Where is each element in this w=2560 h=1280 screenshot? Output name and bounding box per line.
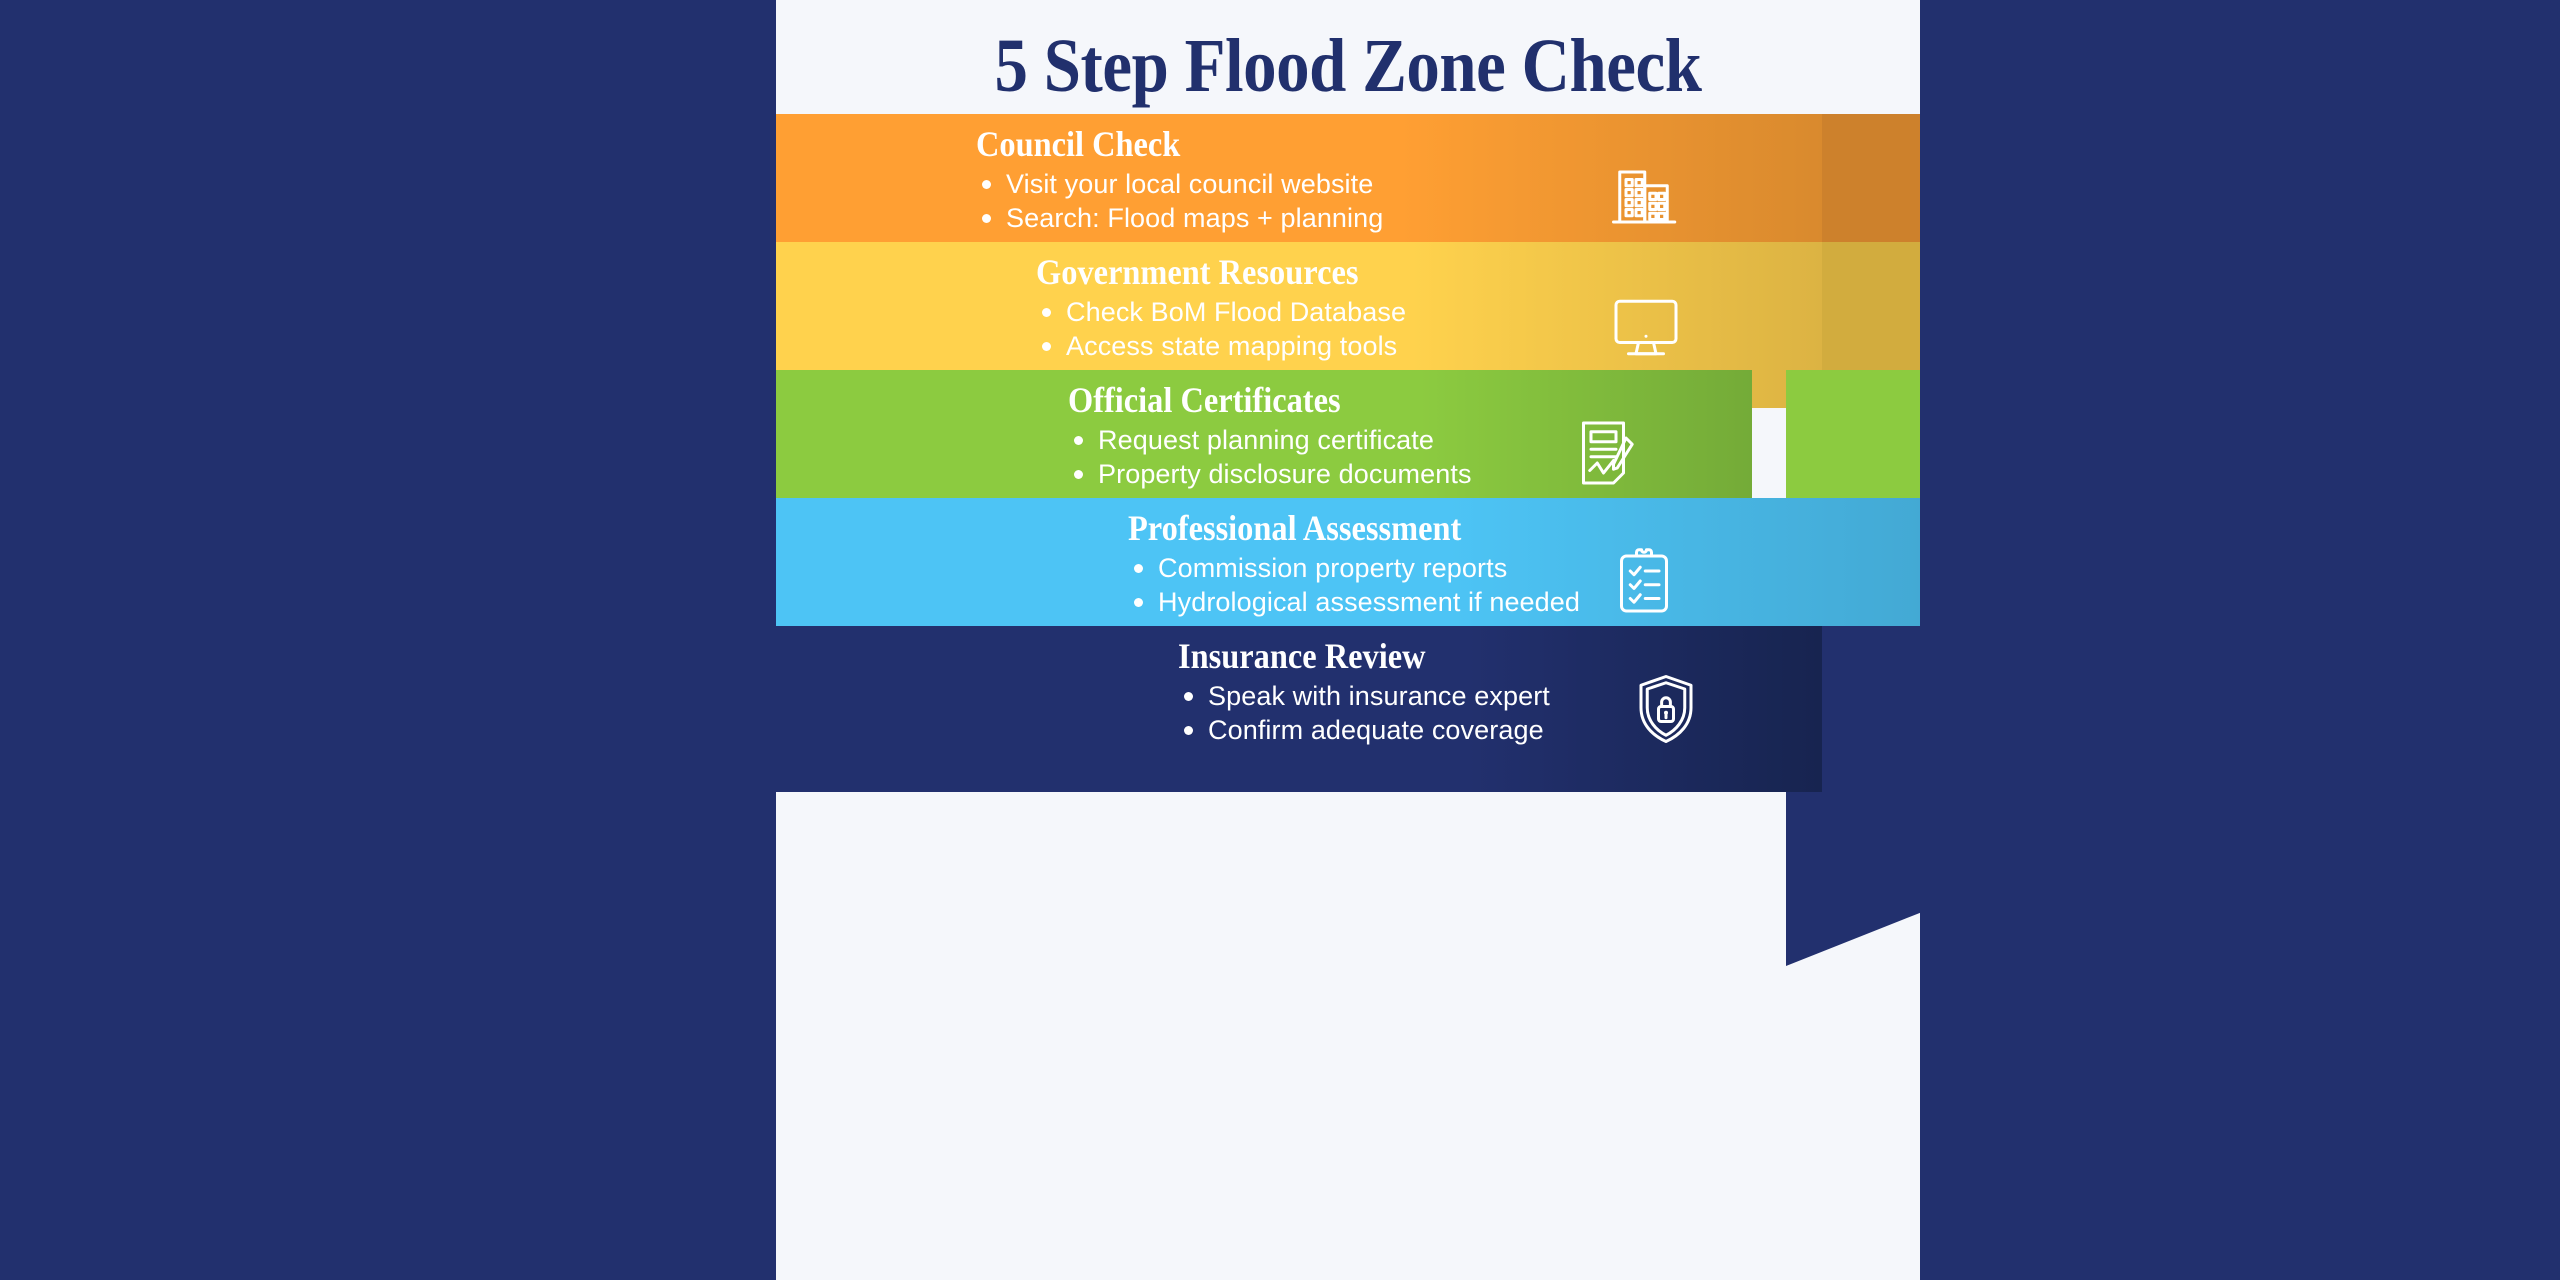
step-bullet: Hydrological assessment if needed <box>1128 585 1580 620</box>
step-bullets: Request planning certificate Property di… <box>1068 423 1472 492</box>
step-bullet: Commission property reports <box>1128 551 1580 586</box>
step-title: Insurance Review <box>1178 638 1513 676</box>
step-title: Official Certificates <box>1068 382 1431 420</box>
infographic-canvas: 5 Step Flood Zone Check 01 Council Check… <box>0 0 2560 1280</box>
clipboard-checklist-icon <box>1604 541 1684 621</box>
step-title: Council Check <box>976 126 1343 164</box>
page-panel: 5 Step Flood Zone Check 01 Council Check… <box>776 0 1920 1280</box>
office-building-icon <box>1606 157 1686 237</box>
step-bullets: Commission property reports Hydrological… <box>1128 551 1580 620</box>
page-title: 5 Step Flood Zone Check <box>845 28 1852 104</box>
step-bullet: Visit your local council website <box>976 167 1383 202</box>
step-title: Government Resources <box>1036 254 1369 292</box>
step-banner-05[interactable]: Insurance Review Speak with insurance ex… <box>776 626 1822 792</box>
step-bullet: Search: Flood maps + planning <box>976 201 1383 236</box>
step-bullet: Speak with insurance expert <box>1178 679 1550 714</box>
step-row: 05 Insurance Review Speak with insurance… <box>776 626 1920 792</box>
step-bullet: Access state mapping tools <box>1036 329 1406 364</box>
step-bullet: Request planning certificate <box>1068 423 1472 458</box>
shield-lock-icon <box>1626 669 1706 749</box>
step-bullets: Speak with insurance expert Confirm adeq… <box>1178 679 1550 748</box>
step-bullets: Check BoM Flood Database Access state ma… <box>1036 295 1406 364</box>
step-title: Professional Assessment <box>1128 510 1535 548</box>
desktop-monitor-icon <box>1606 285 1686 365</box>
step-bullets: Visit your local council website Search:… <box>976 167 1383 236</box>
step-bullet: Property disclosure documents <box>1068 457 1472 492</box>
step-bullet: Confirm adequate coverage <box>1178 713 1550 748</box>
document-signature-icon <box>1566 413 1646 493</box>
step-bullet: Check BoM Flood Database <box>1036 295 1406 330</box>
